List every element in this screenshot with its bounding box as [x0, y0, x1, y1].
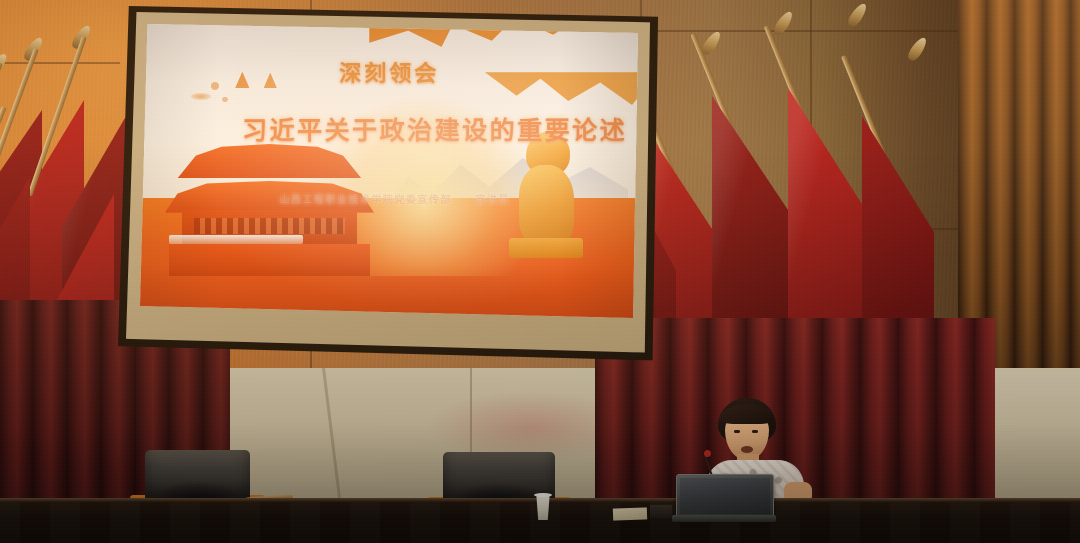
microphone-head	[704, 450, 711, 457]
spear-finial-icon	[906, 35, 930, 63]
dove-icon	[235, 72, 249, 88]
gate-base	[169, 244, 370, 276]
slide-subtitle: 山西工程职业技术学院党委宣传部 宣讲员	[279, 191, 509, 206]
dove-icon	[191, 93, 211, 101]
panel-seam	[322, 368, 341, 498]
dove-icon	[211, 82, 219, 90]
eye	[734, 430, 740, 433]
paper-cup-rim	[534, 493, 552, 497]
dove-icon	[264, 73, 277, 88]
spear-finial-icon	[846, 1, 870, 29]
chair-back	[145, 450, 250, 500]
conference-hall-photo: 深刻领会 习近平关于政治建设的重要论述 山西工程职业技术学院党委宣传部 宣讲员	[0, 0, 1080, 543]
laptop-screen	[680, 478, 770, 514]
tiananmen-gate-illustration	[165, 144, 374, 276]
lion-body	[519, 165, 574, 243]
dove-icon	[222, 97, 227, 102]
slide-content: 深刻领会 习近平关于政治建设的重要论述 山西工程职业技术学院党委宣传部 宣讲员	[140, 24, 638, 324]
projection-screen[interactable]: 深刻领会 习近平关于政治建设的重要论述 山西工程职业技术学院党委宣传部 宣讲员	[140, 24, 638, 324]
laptop-lid	[676, 474, 774, 518]
eye	[752, 430, 758, 433]
lion-pedestal	[509, 238, 584, 258]
slide-title-line1: 深刻领会	[339, 56, 439, 88]
mouth	[741, 446, 753, 453]
notebook[interactable]	[650, 505, 672, 518]
gate-upper-roof	[177, 144, 361, 178]
laptop-keyboard-base	[672, 515, 776, 522]
document-sheet[interactable]	[613, 507, 647, 520]
flying-doves	[185, 63, 295, 111]
open-laptop[interactable]	[672, 474, 776, 522]
gate-balustrade	[169, 235, 303, 244]
slide-subtitle-name: 宣讲员	[475, 195, 510, 206]
gate-windows	[194, 218, 345, 234]
slide-subtitle-org: 山西工程职业技术学院党委宣传部	[279, 195, 452, 206]
spear-finial-icon	[772, 9, 796, 37]
guardian-lion-statue	[509, 132, 584, 258]
slide-title-line2: 习近平关于政治建设的重要论述	[242, 111, 627, 147]
